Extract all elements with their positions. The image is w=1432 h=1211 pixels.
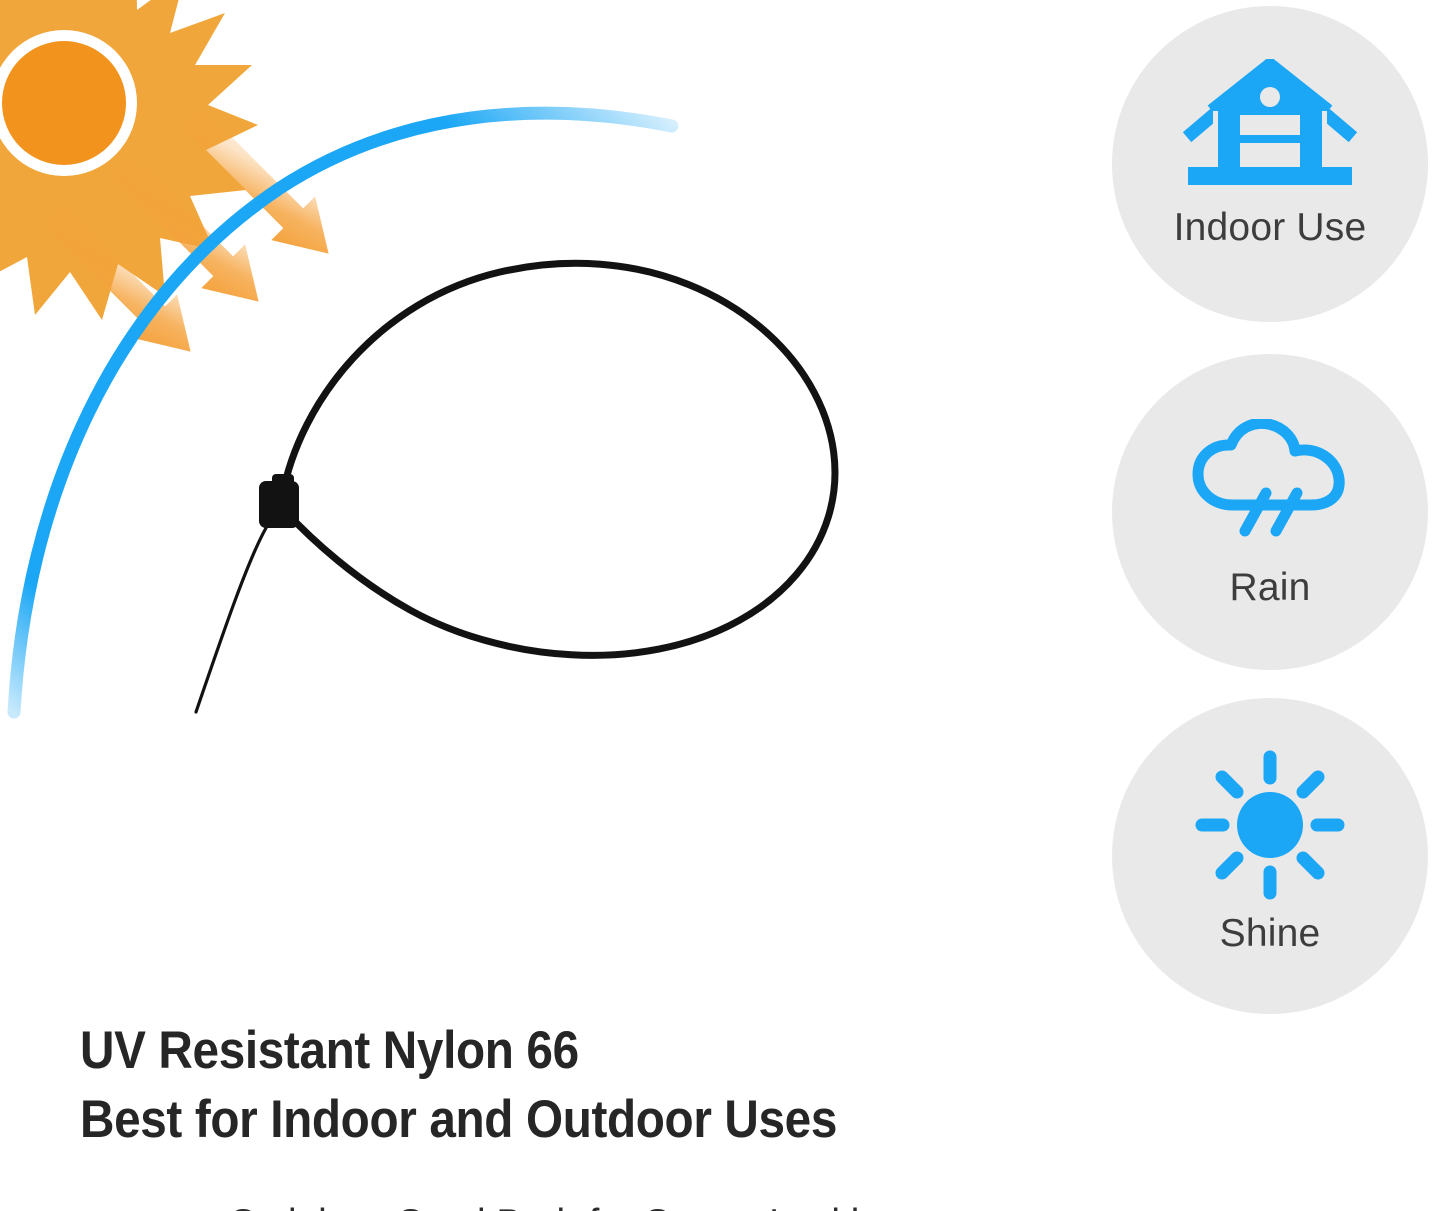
feature-badge-rain[interactable]: Rain [1112,354,1428,670]
product-infographic: Indoor Use Rain [0,0,1432,1211]
clipped-bottom-caption: Stainless Steel Barb for Strong Locking [230,1203,1130,1211]
headline-line-2: Best for Indoor and Outdoor Uses [80,1085,980,1154]
feature-badge-column: Indoor Use Rain [1112,6,1432,1018]
feature-badge-shine[interactable]: Shine [1112,698,1428,1014]
sun-shine-icon [1175,750,1365,900]
feature-label-rain: Rain [1229,568,1310,609]
feature-label-indoor-use: Indoor Use [1174,208,1367,249]
feature-label-shine: Shine [1220,914,1321,955]
headline-line-1: UV Resistant Nylon 66 [80,1016,980,1085]
feature-badge-indoor-use[interactable]: Indoor Use [1112,6,1428,322]
headline-block: UV Resistant Nylon 66 Best for Indoor an… [80,1016,1080,1154]
clipped-bottom-caption-text: Stainless Steel Barb for Strong Locking [230,1203,1058,1211]
rain-cloud-icon [1175,410,1365,550]
cable-tie-illustration [196,263,835,712]
house-icon [1175,52,1365,202]
uv-sunlight-on-cable-tie-illustration [0,0,1060,1000]
